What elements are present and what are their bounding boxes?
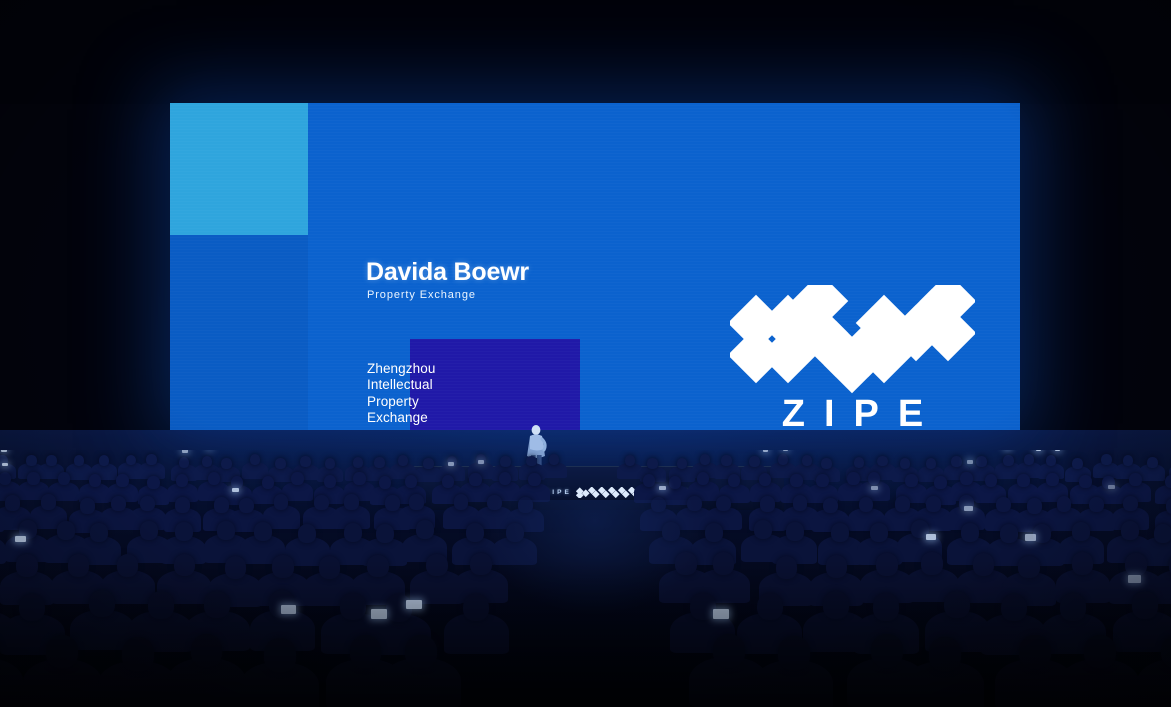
audience-person-head — [976, 456, 986, 467]
zipe-wordmark: ZIPE — [730, 395, 975, 430]
audience-person-head — [122, 637, 154, 670]
audience-person-head — [41, 494, 56, 510]
audience-crowd — [0, 450, 1171, 707]
audience-person-head — [385, 495, 400, 511]
audience-person-head — [1084, 635, 1116, 668]
audience-person-head — [5, 495, 20, 511]
audience-phone-screen — [1055, 450, 1060, 451]
audience-person-head — [405, 635, 437, 668]
audience-person-head — [961, 523, 979, 542]
audience-person-head — [625, 455, 635, 466]
audience-person-head — [793, 495, 808, 511]
zipe-logo-lockup: ZIPE — [730, 285, 975, 430]
audience-person-head — [776, 556, 798, 579]
audience-person-head — [929, 637, 961, 670]
audience-person-head — [300, 456, 310, 467]
audience-person-head — [895, 496, 910, 512]
audience-person-head — [643, 474, 655, 487]
audience-person-head — [526, 456, 536, 467]
audience-person-head — [1018, 556, 1040, 579]
audience-person-head — [786, 522, 804, 541]
audience-person-head — [826, 555, 848, 578]
audience-person — [0, 658, 23, 707]
audience-person-head — [208, 472, 220, 485]
address-line-3: Property — [367, 394, 435, 410]
audience-person-head — [27, 472, 39, 485]
audience-person-head — [58, 472, 70, 485]
audience-person-head — [713, 552, 735, 575]
audience-person-head — [1072, 522, 1090, 541]
audience-person-head — [275, 458, 285, 469]
audience-person-head — [900, 458, 910, 469]
audience-person-head — [662, 522, 680, 541]
audience-person-head — [262, 476, 274, 489]
audience-phone-screen — [1, 450, 6, 452]
audience-person-head — [231, 476, 243, 489]
audience-person-head — [148, 591, 174, 618]
audience-person-head — [46, 635, 78, 668]
audience-person-head — [175, 497, 190, 513]
slide-cyan-header-block — [170, 103, 308, 235]
audience-person-head — [324, 475, 336, 488]
audience-person-head — [409, 494, 424, 510]
audience-person — [1137, 659, 1171, 707]
audience-person-head — [973, 553, 995, 576]
audience-person-head — [140, 496, 155, 512]
audience-person-head — [871, 634, 903, 667]
audience-person-head — [416, 520, 434, 539]
address-line-2: Intellectual — [367, 377, 435, 393]
audience-person-head — [847, 472, 859, 485]
audience-person-head — [423, 458, 433, 469]
audience-person-head — [1003, 455, 1013, 466]
audience-person-head — [1123, 455, 1133, 466]
audience-person-head — [454, 494, 469, 510]
audience-person-head — [350, 635, 382, 668]
audience-person-head — [204, 591, 230, 618]
audience-person-head — [202, 456, 212, 467]
audience-person-head — [1079, 475, 1091, 488]
audience-phone-screen — [15, 536, 26, 542]
audience-person-head — [46, 455, 56, 466]
audience-person-head — [759, 473, 771, 486]
audience-person-head — [319, 556, 341, 579]
audience-phone-screen — [406, 600, 422, 609]
audience-person-head — [179, 457, 189, 468]
hall-ceiling-band — [0, 0, 1171, 104]
audience-person-head — [89, 590, 115, 617]
audience-person-head — [217, 521, 235, 540]
slide-subtitle: Property Exchange — [367, 290, 476, 301]
audience-person-head — [470, 553, 492, 576]
audience-phone-screen — [182, 450, 187, 453]
audience-person-head — [1132, 591, 1158, 618]
audience-person-head — [1057, 496, 1072, 512]
audience-person-head — [1129, 473, 1141, 486]
audience-person-head — [1024, 454, 1034, 465]
audience-person-head — [239, 498, 254, 514]
audience-phone-screen — [232, 488, 239, 492]
audience-person-head — [1072, 552, 1094, 575]
audience-person-head — [353, 457, 363, 468]
audience-person-head — [821, 458, 831, 469]
audience-person-head — [675, 552, 697, 575]
audience-person-head — [713, 634, 745, 667]
audience-person-head — [499, 472, 511, 485]
audience-person-head — [651, 497, 666, 513]
audience-phone-screen — [967, 460, 973, 464]
audience-person-head — [405, 475, 417, 488]
audience-phone-screen — [1108, 485, 1115, 489]
audience-person-head — [757, 593, 783, 620]
audience-phone-screen — [763, 450, 768, 452]
zipe-diamond-chevron-mark — [730, 285, 975, 395]
slide-title: Davida Boewr — [366, 260, 529, 285]
audience-person-head — [254, 522, 272, 541]
audience-person-head — [960, 472, 972, 485]
audience-person-head — [174, 554, 196, 577]
audience-person-head — [398, 455, 408, 466]
audience-person-head — [466, 523, 484, 542]
audience-person-head — [140, 521, 158, 540]
audience-person-head — [506, 523, 524, 542]
audience-person-head — [26, 455, 36, 466]
audience-person-head — [89, 474, 101, 487]
audience-person-head — [376, 524, 394, 543]
audience-person-head — [1101, 454, 1111, 465]
audience-person-head — [877, 456, 887, 467]
audience-person-head — [175, 522, 193, 541]
audience-phone-screen — [1128, 575, 1141, 583]
audience-person-head — [353, 472, 365, 485]
audience-phone-screen — [478, 460, 484, 464]
audience-person-head — [790, 474, 802, 487]
audience-person-head — [272, 555, 294, 578]
audience-phone-screen — [926, 534, 937, 540]
audience-person-head — [80, 498, 95, 514]
audience-person-head — [325, 458, 335, 469]
audience-person-head — [264, 638, 296, 671]
audience-person-head — [905, 474, 917, 487]
audience-person-head — [19, 594, 45, 621]
audience-person-head — [823, 498, 838, 514]
audience-person-head — [705, 523, 723, 542]
audience-phone-screen — [713, 609, 729, 618]
audience-person-head — [996, 497, 1011, 513]
audience-person-head — [1072, 458, 1082, 469]
audience-person-head — [1147, 457, 1157, 468]
audience-person-head — [126, 455, 136, 466]
audience-person-head — [1019, 635, 1051, 668]
audience-person-head — [0, 472, 11, 485]
auditorium-scene: Davida Boewr Property Exchange Zhengzhou… — [0, 0, 1171, 707]
audience-person-head — [68, 554, 90, 577]
audience-phone-screen — [659, 486, 666, 490]
audience-person-head — [868, 472, 880, 485]
audience-person-head — [176, 474, 188, 487]
projection-screen: Davida Boewr Property Exchange Zhengzhou… — [170, 103, 1020, 430]
audience-person-head — [926, 458, 936, 469]
audience-person-head — [463, 594, 489, 621]
audience-person-head — [344, 494, 359, 510]
audience-phone-screen — [2, 463, 8, 467]
audience-person-head — [859, 497, 874, 513]
slide-indigo-block — [410, 339, 580, 430]
audience-person-head — [687, 496, 702, 512]
audience-person-head — [728, 474, 740, 487]
audience-phone-screen — [1036, 450, 1041, 451]
audience-phone-screen — [783, 450, 788, 451]
audience-person-head — [426, 554, 448, 577]
audience-person-head — [778, 636, 810, 669]
audience-person-head — [1000, 524, 1018, 543]
audience-person-head — [1166, 498, 1171, 514]
audience-person-head — [214, 497, 229, 513]
audience-person-head — [111, 496, 126, 512]
audience-person-head — [721, 455, 731, 466]
audience-person-head — [754, 520, 772, 539]
audience-person-head — [117, 554, 139, 577]
audience-person-head — [90, 523, 108, 542]
audience-person-head — [700, 454, 710, 465]
audience-person-head — [749, 456, 759, 467]
audience-person-head — [934, 476, 946, 489]
audience-phone-screen — [281, 605, 297, 614]
audience-person-head — [647, 458, 657, 469]
audience-person-head — [291, 472, 303, 485]
audience-person-head — [697, 472, 709, 485]
audience-person-head — [74, 455, 84, 466]
audience-person-head — [225, 556, 247, 579]
audience-person-head — [716, 496, 731, 512]
audience-person-head — [487, 495, 502, 511]
audience-person-head — [1027, 498, 1042, 514]
audience-person-head — [274, 494, 289, 510]
audience-person-head — [379, 476, 391, 489]
audience-person-head — [985, 474, 997, 487]
audience-person-head — [823, 591, 849, 618]
audience-person-head — [1089, 497, 1104, 513]
audience-person-head — [528, 473, 540, 486]
audience-person-head — [926, 496, 941, 512]
audience-person-head — [442, 475, 454, 488]
audience-person-head — [57, 521, 75, 540]
audience-person-head — [802, 455, 812, 466]
audience-phone-screen — [448, 462, 454, 466]
audience-person-head — [298, 524, 316, 543]
audience-person-head — [816, 474, 828, 487]
audience-person-head — [870, 523, 888, 542]
audience-person-head — [1001, 594, 1027, 621]
audience-person-head — [831, 523, 849, 542]
audience-person-head — [1154, 524, 1171, 543]
audience-person-head — [314, 495, 329, 511]
audience-person-head — [147, 476, 159, 489]
audience-person-head — [16, 554, 38, 577]
audience-person-head — [690, 593, 716, 620]
address-line-4: Exchange — [367, 410, 435, 426]
audience-person-head — [116, 474, 128, 487]
audience-person-head — [677, 458, 687, 469]
audience-person-head — [1121, 521, 1139, 540]
address-line-1: Zhengzhou — [367, 361, 435, 377]
audience-person-head — [854, 457, 864, 468]
audience-person-head — [951, 456, 961, 467]
audience-person-head — [760, 496, 775, 512]
audience-person-head — [344, 523, 362, 542]
audience-person-head — [374, 457, 384, 468]
audience-person-head — [340, 593, 366, 620]
audience-person-head — [1165, 475, 1171, 488]
audience-phone-screen — [871, 486, 878, 490]
audience-person-head — [469, 473, 481, 486]
audience-person-head — [1046, 455, 1056, 466]
audience-person-head — [873, 593, 899, 620]
audience-phone-screen — [964, 506, 973, 511]
audience-person-head — [191, 634, 223, 667]
audience-person-head — [250, 454, 260, 465]
audience-person-head — [778, 454, 788, 465]
audience-person-head — [367, 555, 389, 578]
audience-person-head — [1017, 474, 1029, 487]
audience-person-head — [146, 454, 156, 465]
audience-person-head — [1125, 553, 1147, 576]
audience-person-head — [944, 591, 970, 618]
audience-person-head — [518, 497, 533, 513]
audience-person-head — [1046, 473, 1058, 486]
audience-person-head — [921, 552, 943, 575]
audience-person-head — [221, 458, 231, 469]
slide-address-block: Zhengzhou Intellectual Property Exchange — [367, 361, 435, 426]
audience-person-head — [500, 456, 510, 467]
audience-person-head — [1123, 496, 1138, 512]
audience-person-head — [876, 553, 898, 576]
audience-phone-screen — [1025, 534, 1036, 540]
audience-person-head — [669, 476, 681, 489]
audience-phone-screen — [371, 609, 387, 618]
audience-person-head — [1060, 593, 1086, 620]
audience-person-head — [549, 454, 559, 465]
